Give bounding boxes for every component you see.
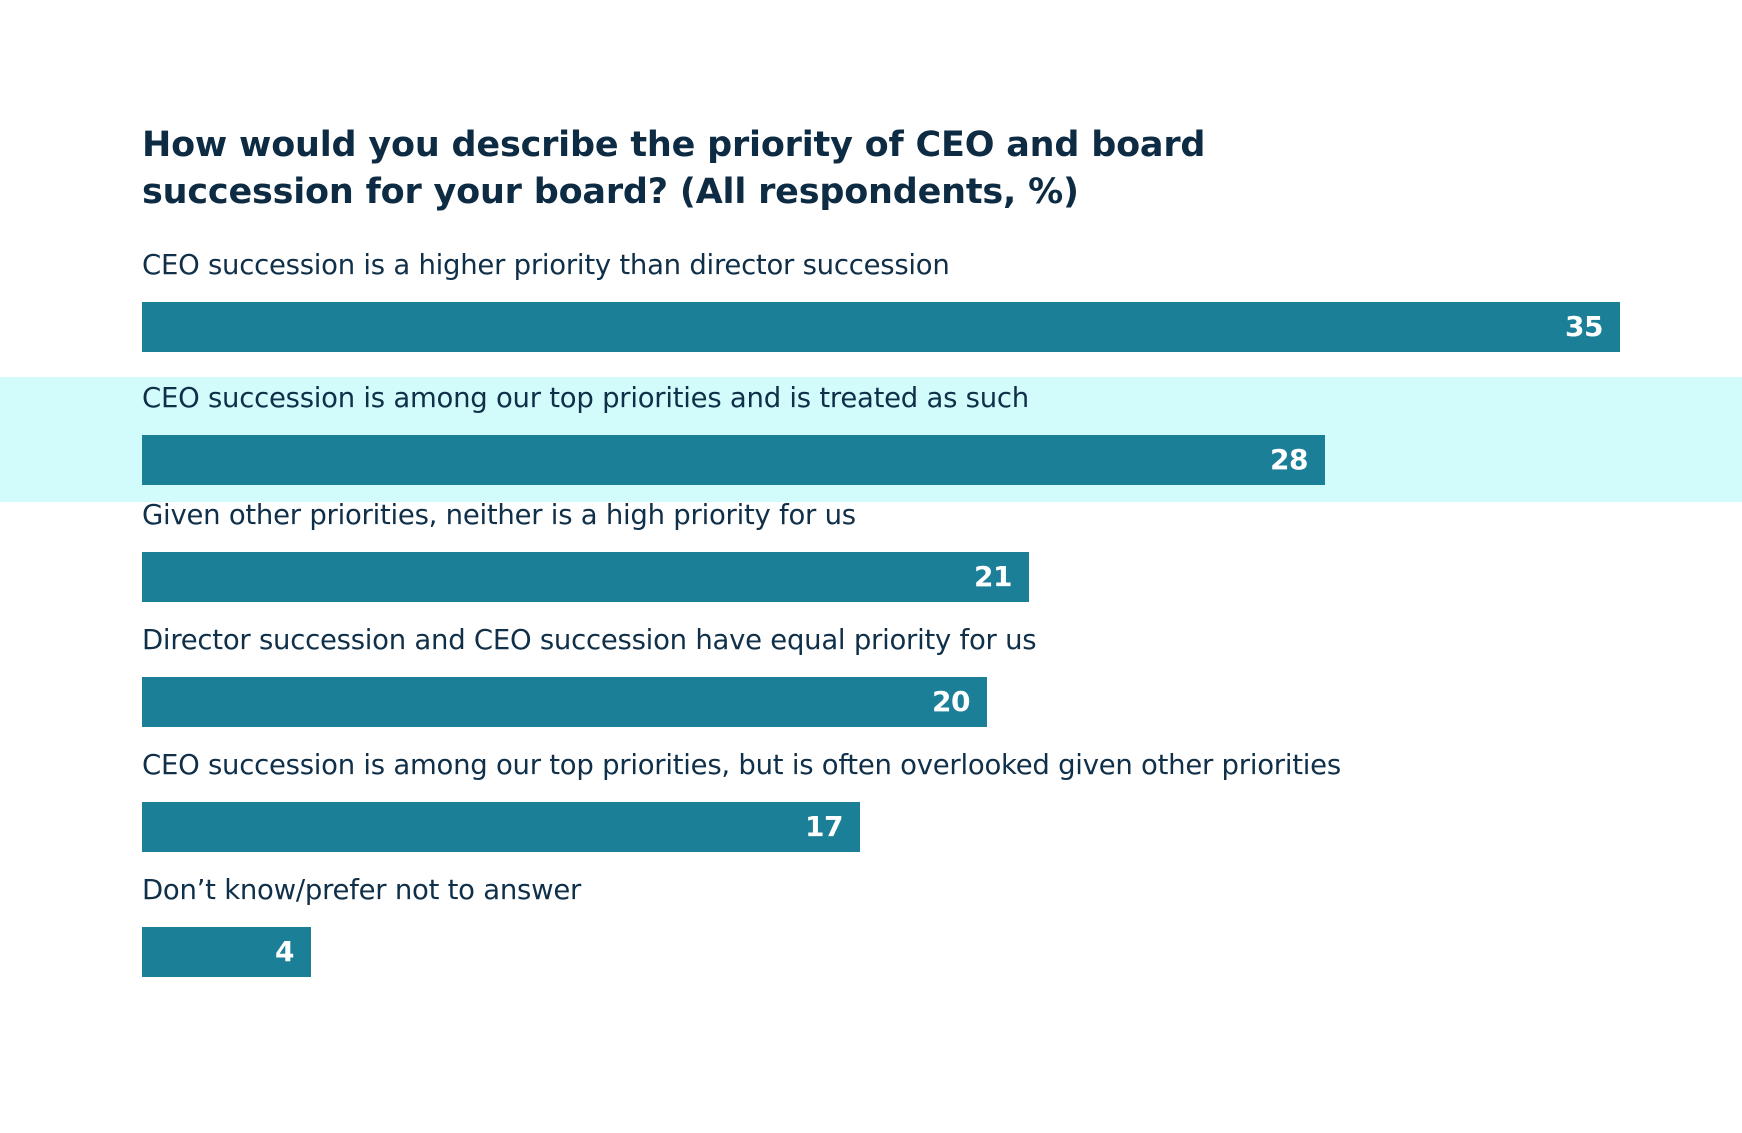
bar-fill[interactable]: 17 — [142, 802, 860, 852]
bar-row[interactable]: Don’t know/prefer not to answer 4 — [0, 877, 1742, 1002]
bar-track: 35 — [142, 302, 1742, 352]
chart-title-line-2: succession for your board? (All responde… — [142, 172, 1079, 212]
bar-fill[interactable]: 28 — [142, 435, 1325, 485]
chart-title-line-1: How would you describe the priority of C… — [142, 125, 1205, 165]
bar-category-label: Given other priorities, neither is a hig… — [142, 502, 1742, 540]
bar-category-label: CEO succession is among our top prioriti… — [142, 752, 1742, 790]
bar-chart: CEO succession is a higher priority than… — [0, 252, 1742, 1002]
bar-fill[interactable]: 20 — [142, 677, 987, 727]
bar-row[interactable]: CEO succession is a higher priority than… — [0, 252, 1742, 377]
bar-category-label: CEO succession is a higher priority than… — [142, 252, 1742, 290]
bar-row[interactable]: Given other priorities, neither is a hig… — [0, 502, 1742, 627]
bar-track: 17 — [142, 802, 1742, 852]
bar-value-label: 28 — [1270, 446, 1325, 474]
bar-track: 21 — [142, 552, 1742, 602]
bar-track: 4 — [142, 927, 1742, 977]
bar-fill[interactable]: 4 — [142, 927, 311, 977]
chart-title: How would you describe the priority of C… — [142, 122, 1262, 215]
bar-value-label: 21 — [974, 563, 1029, 591]
bar-row-highlighted[interactable]: CEO succession is among our top prioriti… — [0, 377, 1742, 502]
bar-value-label: 20 — [932, 688, 987, 716]
bar-row[interactable]: CEO succession is among our top prioriti… — [0, 752, 1742, 877]
bar-value-label: 17 — [805, 813, 860, 841]
bar-fill[interactable]: 21 — [142, 552, 1029, 602]
bar-row[interactable]: Director succession and CEO succession h… — [0, 627, 1742, 752]
bar-value-label: 4 — [275, 938, 311, 966]
bar-fill[interactable]: 35 — [142, 302, 1620, 352]
chart-slide: How would you describe the priority of C… — [0, 0, 1742, 1133]
bar-value-label: 35 — [1565, 313, 1620, 341]
bar-category-label: Don’t know/prefer not to answer — [142, 877, 1742, 915]
bar-category-label: Director succession and CEO succession h… — [142, 627, 1742, 665]
bar-track: 28 — [142, 435, 1742, 485]
bar-track: 20 — [142, 677, 1742, 727]
bar-category-label: CEO succession is among our top prioriti… — [142, 385, 1742, 423]
